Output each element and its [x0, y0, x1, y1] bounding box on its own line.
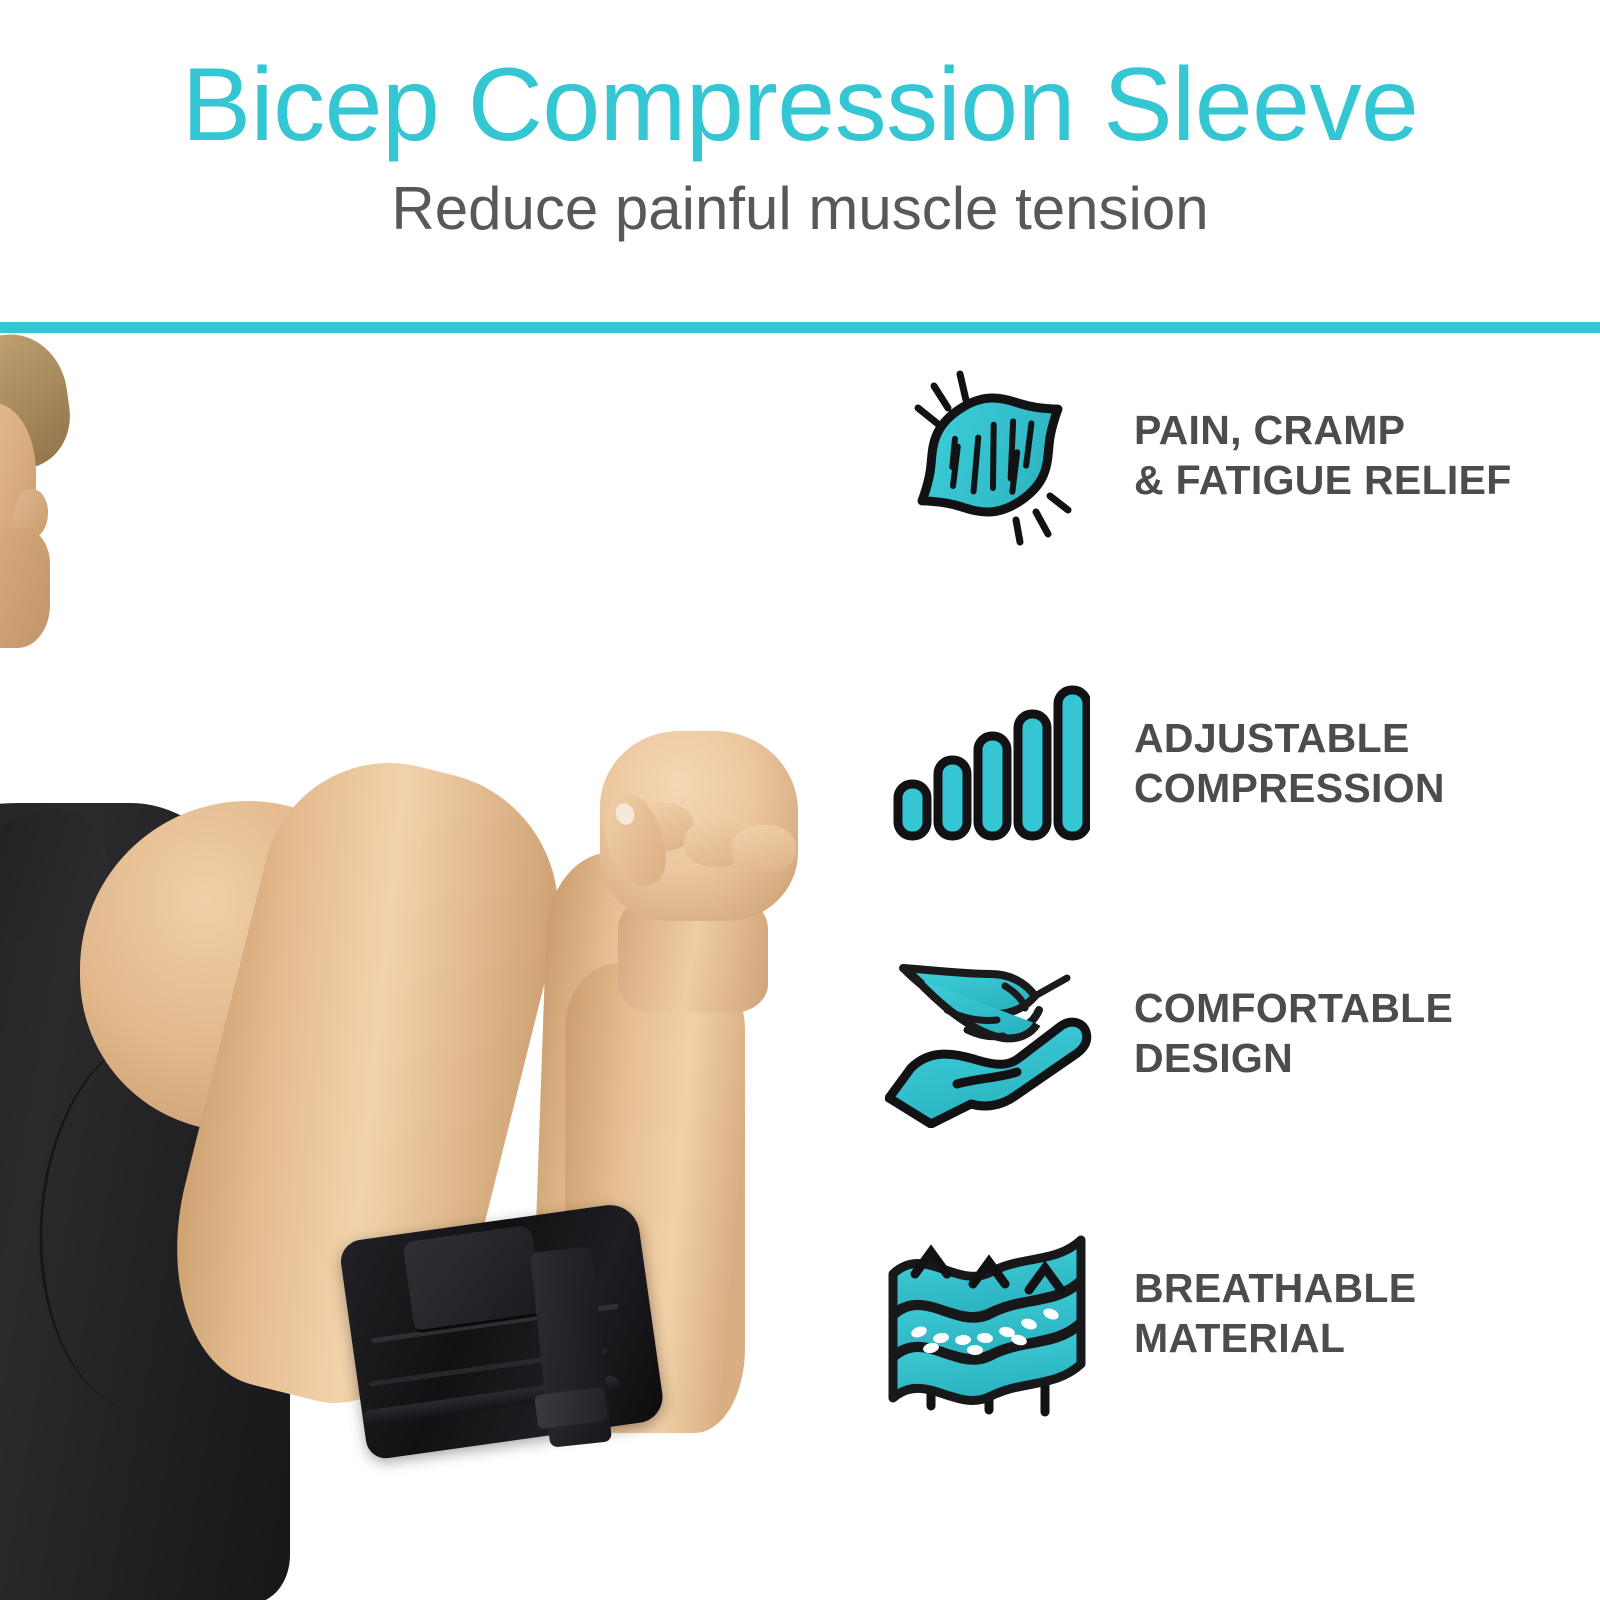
- body-area: PAIN, CRAMP & FATIGUE RELIEF: [0, 333, 1600, 1600]
- header-divider: [0, 322, 1600, 333]
- feature-item-breathable-material: BREATHABLE MATERIAL: [880, 1213, 1416, 1413]
- model-neck: [0, 528, 50, 648]
- product-photo: [0, 333, 880, 1600]
- sleeve-velcro-flap: [402, 1224, 544, 1333]
- model-knuckle: [732, 825, 796, 873]
- feature-list: PAIN, CRAMP & FATIGUE RELIEF: [880, 333, 1600, 1600]
- breathable-fabric-icon: [880, 1213, 1100, 1413]
- feature-item-pain-relief: PAIN, CRAMP & FATIGUE RELIEF: [880, 355, 1512, 555]
- muscle-icon: [880, 355, 1100, 555]
- page-subtitle: Reduce painful muscle tension: [391, 174, 1208, 243]
- feather-in-hand-icon: [880, 933, 1100, 1133]
- feature-item-comfortable-design: COMFORTABLE DESIGN: [880, 933, 1453, 1133]
- header: Bicep Compression Sleeve Reduce painful …: [0, 0, 1600, 322]
- feature-label: BREATHABLE MATERIAL: [1134, 1263, 1416, 1363]
- signal-bars-icon: [880, 663, 1100, 863]
- feature-label: ADJUSTABLE COMPRESSION: [1134, 713, 1445, 813]
- page-title: Bicep Compression Sleeve: [182, 52, 1419, 158]
- feature-item-adjustable-compression: ADJUSTABLE COMPRESSION: [880, 663, 1445, 863]
- feature-label: COMFORTABLE DESIGN: [1134, 983, 1453, 1083]
- feature-label: PAIN, CRAMP & FATIGUE RELIEF: [1134, 405, 1512, 505]
- product-infographic: Bicep Compression Sleeve Reduce painful …: [0, 0, 1600, 1600]
